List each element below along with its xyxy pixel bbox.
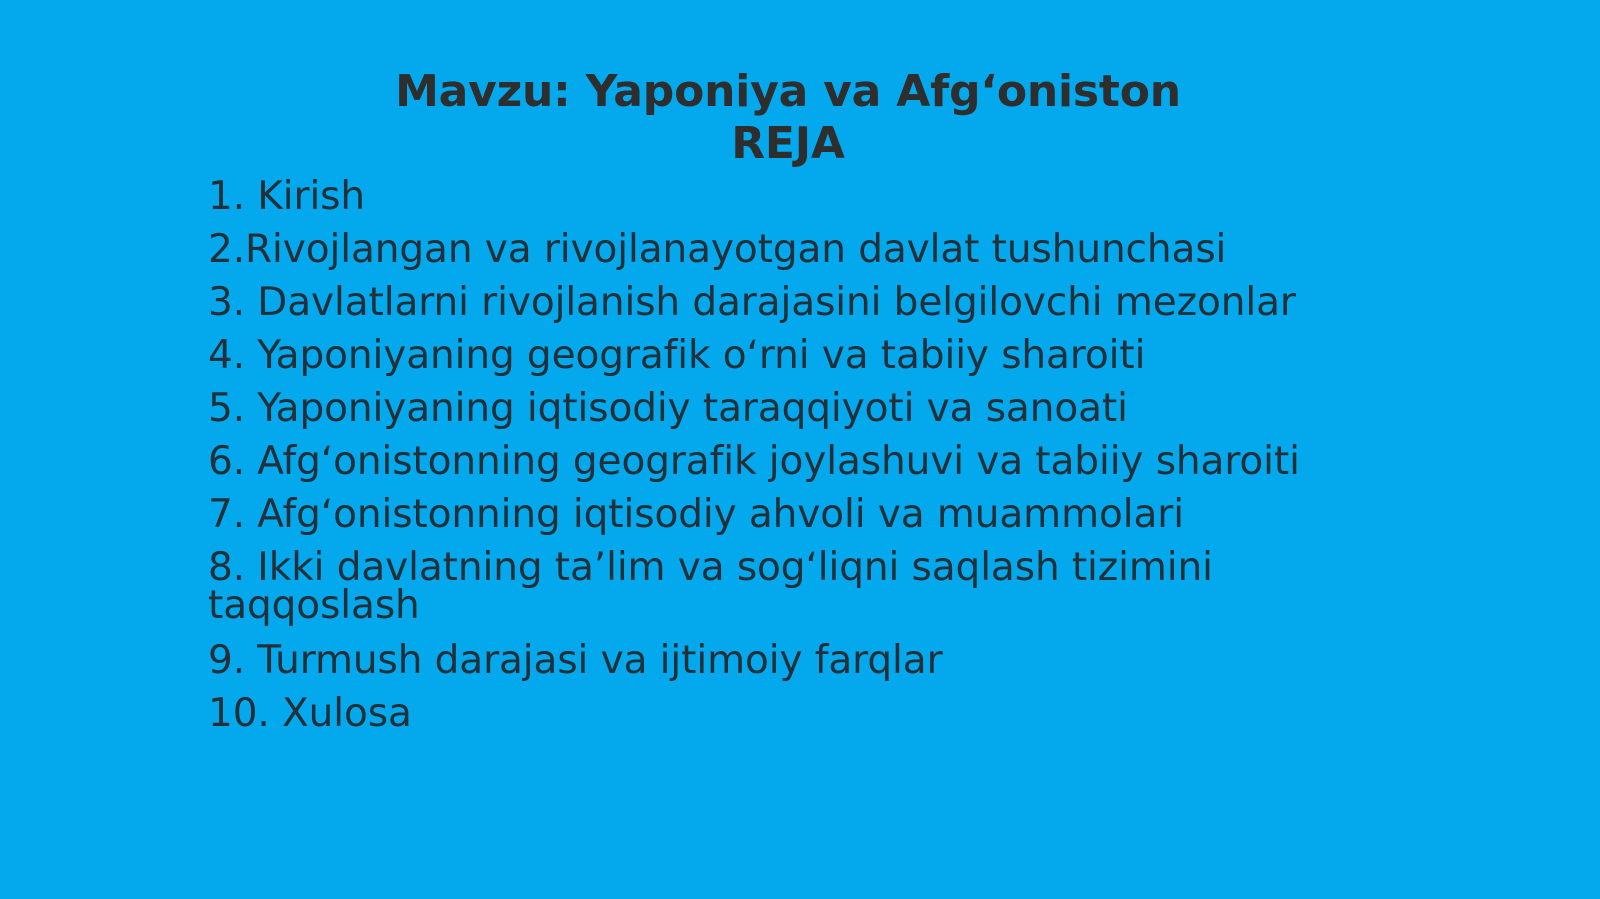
outline-item-3: 3. Davlatlarni rivojlanish darajasini be… [208,276,1548,329]
presentation-slide: Mavzu: Yaponiya va Afg‘oniston REJA 1. K… [0,0,1600,899]
outline-item-10: 10. Xulosa [208,687,1548,740]
outline-item-4: 4. Yaponiyaning geografik o‘rni va tabii… [208,329,1548,382]
outline-item-2: 2.Rivojlangan va rivojlanayotgan davlat … [208,223,1548,276]
outline-item-7: 7. Afg‘onistonning iqtisodiy ahvoli va m… [208,488,1548,541]
slide-title-main: Mavzu: Yaponiya va Afg‘oniston [0,66,1576,118]
slide-title-subheading: REJA [0,118,1576,170]
outline-item-9: 9. Turmush darajasi va ijtimoiy farqlar [208,634,1548,687]
slide-title-block: Mavzu: Yaponiya va Afg‘oniston REJA [0,66,1576,170]
outline-item-5: 5. Yaponiyaning iqtisodiy taraqqiyoti va… [208,382,1548,435]
outline-item-1: 1. Kirish [208,170,1548,223]
outline-item-6: 6. Afg‘onistonning geografik joylashuvi … [208,435,1548,488]
outline-list: 1. Kirish 2.Rivojlangan va rivojlanayotg… [208,170,1548,740]
outline-item-8: 8. Ikki davlatning ta’lim va sog‘liqni s… [208,549,1283,625]
